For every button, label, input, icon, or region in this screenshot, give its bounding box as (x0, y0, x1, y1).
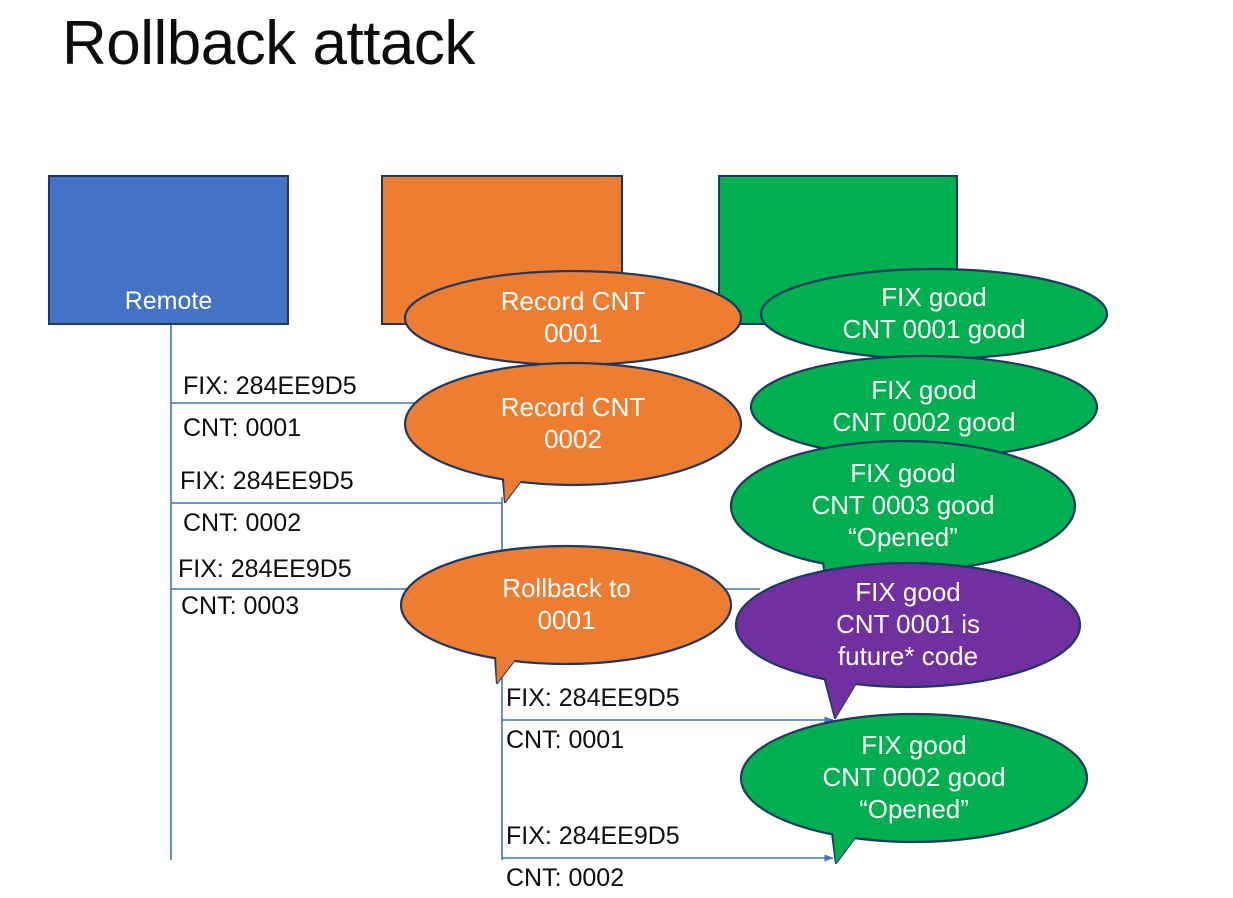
bubble-rx-cnt-0002-opened[interactable]: FIX good CNT 0002 good “Opened” (740, 713, 1088, 865)
message-label-m1-cnt: CNT: 0001 (183, 415, 301, 443)
message-label-m2-cnt: CNT: 0002 (183, 510, 301, 538)
bubble-record-cnt-0001[interactable]: Record CNT 0001 (404, 270, 742, 366)
message-label-m5-cnt: CNT: 0002 (506, 865, 624, 893)
message-label-m4-fix: FIX: 284EE9D5 (506, 685, 680, 713)
bubble-rollback-to-0001[interactable]: Rollback to 0001 (400, 545, 733, 687)
bubble-rx-cnt-0001-future[interactable]: FIX good CNT 0001 is future* code (735, 562, 1081, 720)
bubble-rx-cnt-0001-good[interactable]: FIX good CNT 0001 good (760, 268, 1108, 360)
message-label-m1-fix: FIX: 284EE9D5 (183, 373, 357, 401)
actor-box-remote[interactable]: Remote (48, 175, 289, 325)
message-label-m3-cnt: CNT: 0003 (181, 593, 299, 621)
actor-label-remote: Remote (125, 288, 213, 316)
message-label-m4-cnt: CNT: 0001 (506, 727, 624, 755)
message-label-m2-fix: FIX: 284EE9D5 (180, 468, 354, 496)
bubble-record-cnt-0002[interactable]: Record CNT 0002 (404, 362, 742, 507)
slide-canvas: Rollback attack (0, 0, 1233, 898)
message-label-m3-fix: FIX: 284EE9D5 (178, 556, 352, 584)
message-label-m5-fix: FIX: 284EE9D5 (506, 823, 680, 851)
